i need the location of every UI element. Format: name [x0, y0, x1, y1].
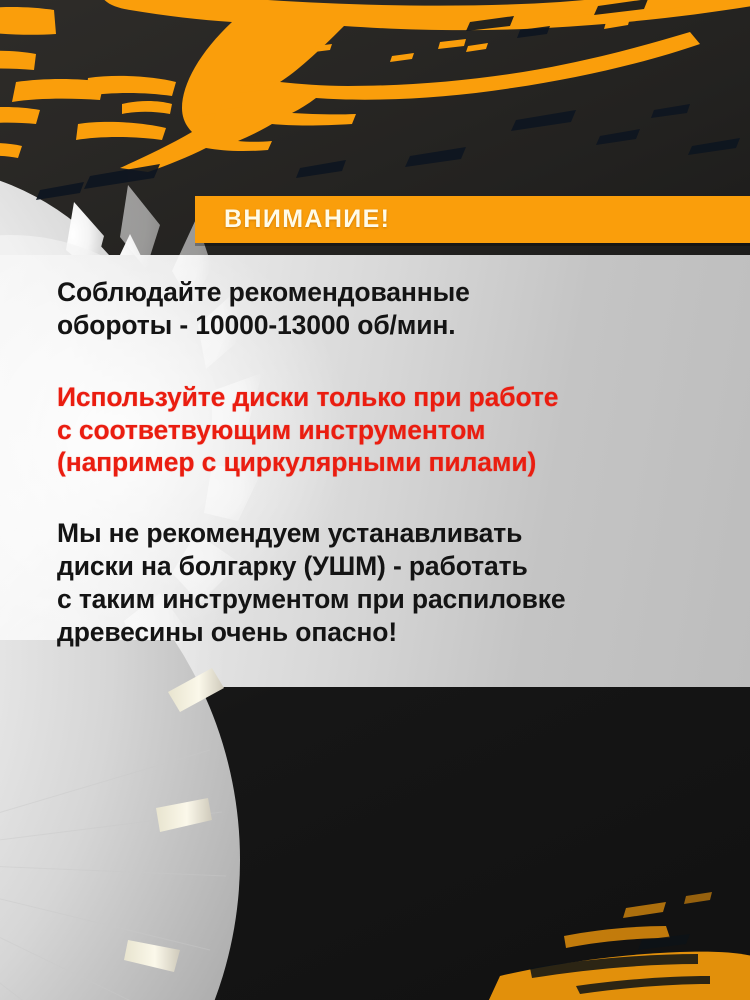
warning-copy: Соблюдайте рекомендованные обороты - 100…: [57, 276, 717, 649]
orange-paint-stroke-bottom: [380, 880, 750, 1000]
warning-poster: ВНИМАНИЕ! Соблюдайте рекомендованные обо…: [0, 0, 750, 1000]
circular-saw-blade-lower: [0, 640, 390, 1000]
paragraph-tool-warning: Используйте диски только при работе с со…: [57, 381, 717, 480]
paragraph-grinder-warning: Мы не рекомендуем устанавливать диски на…: [57, 517, 717, 648]
attention-banner-label: ВНИМАНИЕ!: [224, 205, 390, 234]
paragraph-rpm-advice: Соблюдайте рекомендованные обороты - 100…: [57, 276, 717, 342]
attention-banner: ВНИМАНИЕ!: [195, 196, 750, 243]
paragraph-spacer: [57, 342, 717, 381]
orange-paint-stroke-top: [0, 0, 750, 210]
paragraph-spacer: [57, 479, 717, 517]
